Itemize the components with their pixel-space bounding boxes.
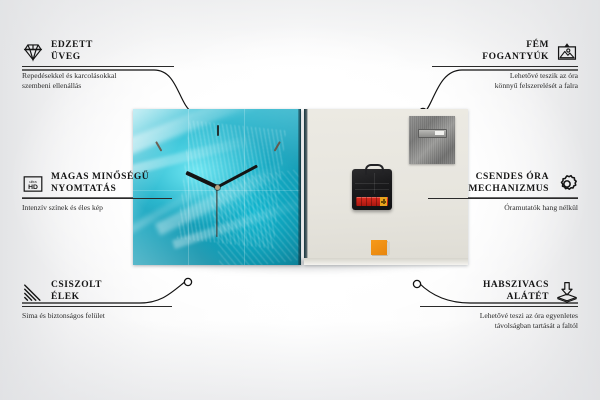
back-panel-edge [304, 109, 308, 265]
callout-description: Sima és biztonságos felület [22, 311, 172, 321]
clock-hand-minute [216, 165, 257, 189]
clock-hand-hour [185, 171, 218, 189]
callout-description: Lehetővé teszik az órakönnyű felszerelés… [432, 71, 578, 90]
arrow-onto-pad-icon [556, 281, 578, 303]
callout-polished-edges: CSISZOLTÉLEK Sima és biztonságos felület [22, 280, 172, 321]
callout-divider [420, 306, 578, 307]
ultra-hd-icon: ultra HD [22, 173, 44, 195]
clock-mechanism [352, 169, 392, 210]
back-panel-bottom-edge [304, 258, 468, 265]
hour-marker [271, 186, 301, 219]
callout-divider [428, 198, 578, 199]
hour-marker [280, 248, 301, 250]
battery [356, 197, 388, 206]
callout-description: Óramutatók hang nélkül [428, 203, 578, 213]
callout-divider [22, 66, 174, 67]
hour-marker [217, 125, 219, 187]
clock-hub [215, 185, 220, 190]
callout-title: EDZETTÜVEG [51, 40, 93, 63]
callout-description: Lehetővé teszi az óra egyenletestávolság… [420, 311, 578, 330]
callout-title: CSENDES ÓRAMECHANIZMUS [469, 172, 549, 195]
svg-text:HD: HD [28, 184, 38, 191]
clock-hand-second [216, 187, 217, 237]
infographic-canvas: EDZETTÜVEG Repedésekkel és karcolásokkal… [0, 0, 600, 400]
callout-foam-underlay: HABSZIVACSALÁTÉT Lehetővé teszi az óra e… [420, 280, 578, 331]
product-image [133, 109, 468, 269]
callout-metal-handles: FÉMFOGANTYÚK Lehetővé teszik az órakönny… [432, 40, 578, 91]
diagonal-lines-icon [22, 281, 44, 303]
mechanism-detail [355, 183, 389, 184]
metal-grain [409, 116, 455, 164]
gear-icon [556, 173, 578, 195]
callout-description: Repedésekkel és karcolásokkalszembeni el… [22, 71, 174, 90]
callout-high-quality-print: ultra HD MAGAS MINŐSÉGŰNYOMTATÁS Intenzí… [22, 172, 172, 213]
callout-title: FÉMFOGANTYÚK [482, 40, 549, 63]
hanger-slot [418, 129, 447, 138]
mechanism-detail [355, 189, 389, 190]
callout-silent-mechanism: CSENDES ÓRAMECHANIZMUS Óramutatók hang n… [428, 172, 578, 213]
callout-title: CSISZOLTÉLEK [51, 280, 102, 303]
hour-marker [133, 248, 156, 250]
callout-tempered-glass: EDZETTÜVEG Repedésekkel és karcolásokkal… [22, 40, 174, 91]
callout-divider [22, 306, 172, 307]
callout-divider [432, 66, 578, 67]
metal-hanger-plate [409, 116, 455, 164]
callout-title: MAGAS MINŐSÉGŰNYOMTATÁS [51, 172, 149, 195]
callout-divider [22, 198, 172, 199]
battery-plus-terminal [380, 197, 387, 206]
callout-description: Intenzív színek és éles kép [22, 203, 172, 213]
foam-pad [371, 240, 387, 255]
callout-title: HABSZIVACSALÁTÉT [483, 280, 549, 303]
picture-hanger-icon [556, 41, 578, 63]
mechanism-detail [374, 173, 375, 194]
diamond-icon [22, 41, 44, 63]
